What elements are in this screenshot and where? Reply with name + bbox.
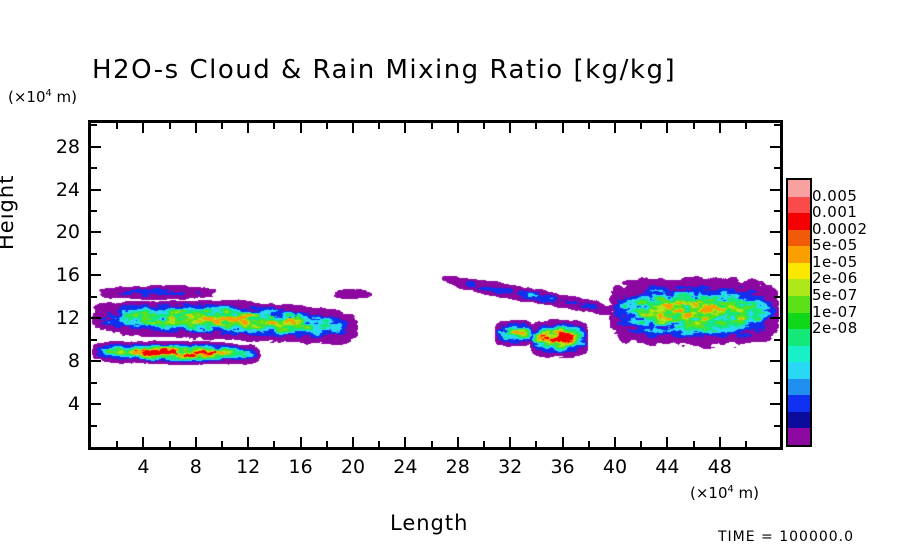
- axis-tick: [91, 296, 97, 298]
- axis-tick: [774, 425, 780, 427]
- axis-tick: [666, 437, 668, 447]
- x-axis-title: Length: [390, 511, 468, 535]
- y-tick-label: 24: [40, 179, 80, 201]
- axis-tick: [483, 441, 485, 447]
- colorbar-band: [788, 313, 810, 330]
- x-tick-label: 8: [176, 456, 216, 478]
- axis-tick: [770, 403, 780, 405]
- axis-tick: [693, 123, 695, 129]
- axis-tick: [719, 437, 721, 447]
- x-tick-label: 24: [385, 456, 425, 478]
- x-axis-units-label: (×104 m): [690, 484, 759, 502]
- axis-tick: [352, 437, 354, 447]
- colorbar-band: [788, 180, 810, 197]
- plot-area: [88, 120, 783, 450]
- axis-tick: [640, 441, 642, 447]
- axis-tick: [91, 253, 97, 255]
- colorbar-band: [788, 279, 810, 296]
- axis-tick: [774, 167, 780, 169]
- axis-tick: [247, 123, 249, 133]
- colorbar-band: [788, 246, 810, 263]
- axis-tick: [91, 274, 101, 276]
- y-tick-label: 4: [40, 393, 80, 415]
- axis-tick: [770, 360, 780, 362]
- y-tick-label: 12: [40, 307, 80, 329]
- colorbar-band: [788, 395, 810, 412]
- axis-tick: [195, 123, 197, 133]
- axis-tick: [774, 339, 780, 341]
- axis-tick: [457, 437, 459, 447]
- axis-tick: [774, 296, 780, 298]
- colorbar-band: [788, 197, 810, 214]
- axis-tick: [404, 437, 406, 447]
- axis-tick: [719, 123, 721, 133]
- axis-tick: [91, 189, 101, 191]
- colorbar-band: [788, 362, 810, 379]
- axis-tick: [273, 441, 275, 447]
- axis-tick: [509, 437, 511, 447]
- colorbar: [786, 178, 812, 447]
- axis-tick: [774, 382, 780, 384]
- axis-tick: [221, 441, 223, 447]
- axis-tick: [535, 441, 537, 447]
- axis-tick: [770, 231, 780, 233]
- y-axis-title: Height: [0, 175, 18, 250]
- colorbar-tick-label: 0.001: [812, 203, 857, 221]
- colorbar-tick-label: 0.005: [812, 187, 857, 205]
- axis-tick: [457, 123, 459, 133]
- x-tick-label: 12: [228, 456, 268, 478]
- axis-tick: [91, 403, 101, 405]
- axis-tick: [562, 123, 564, 133]
- axis-tick: [195, 437, 197, 447]
- y-tick-label: 8: [40, 350, 80, 372]
- axis-tick: [431, 441, 433, 447]
- axis-tick: [326, 123, 328, 129]
- axis-tick: [91, 317, 101, 319]
- axis-tick: [562, 437, 564, 447]
- y-tick-label: 16: [40, 264, 80, 286]
- axis-tick: [221, 123, 223, 129]
- axis-tick: [273, 123, 275, 129]
- x-tick-label: 36: [543, 456, 583, 478]
- colorbar-band: [788, 263, 810, 280]
- axis-tick: [91, 382, 97, 384]
- colorbar-band: [788, 213, 810, 230]
- axis-tick: [509, 123, 511, 133]
- x-tick-label: 32: [490, 456, 530, 478]
- colorbar-band: [788, 346, 810, 363]
- axis-tick: [91, 210, 97, 212]
- axis-tick: [770, 146, 780, 148]
- axis-tick: [770, 274, 780, 276]
- axis-tick: [91, 124, 97, 126]
- y-tick-label: 28: [40, 136, 80, 158]
- colorbar-tick-label: 1e-05: [812, 253, 858, 271]
- axis-tick: [91, 231, 101, 233]
- axis-tick: [588, 123, 590, 129]
- axis-tick: [588, 441, 590, 447]
- axis-tick: [142, 437, 144, 447]
- axis-tick: [91, 146, 101, 148]
- mixing-ratio-field: [91, 123, 780, 447]
- axis-tick: [614, 123, 616, 133]
- x-tick-label: 20: [333, 456, 373, 478]
- x-tick-label: 4: [123, 456, 163, 478]
- colorbar-band: [788, 428, 810, 445]
- colorbar-band: [788, 230, 810, 247]
- x-tick-label: 44: [647, 456, 687, 478]
- axis-tick: [693, 441, 695, 447]
- axis-tick: [326, 441, 328, 447]
- axis-tick: [247, 437, 249, 447]
- axis-tick: [774, 253, 780, 255]
- axis-tick: [378, 123, 380, 129]
- axis-tick: [640, 123, 642, 129]
- colorbar-band: [788, 296, 810, 313]
- axis-tick: [352, 123, 354, 133]
- page-title: H2O-s Cloud & Rain Mixing Ratio [kg/kg]: [92, 55, 676, 85]
- x-tick-label: 40: [595, 456, 635, 478]
- axis-tick: [774, 124, 780, 126]
- axis-tick: [169, 441, 171, 447]
- axis-tick: [614, 437, 616, 447]
- colorbar-tick-label: 2e-08: [812, 319, 858, 337]
- colorbar-band: [788, 412, 810, 429]
- colorbar-band: [788, 379, 810, 396]
- axis-tick: [666, 123, 668, 133]
- axis-tick: [770, 189, 780, 191]
- figure-canvas: H2O-s Cloud & Rain Mixing Ratio [kg/kg] …: [0, 0, 904, 544]
- colorbar-tick-label: 1e-07: [812, 303, 858, 321]
- time-annotation: TIME = 100000.0: [718, 529, 854, 544]
- axis-tick: [116, 123, 118, 129]
- axis-tick: [91, 339, 97, 341]
- axis-tick: [91, 167, 97, 169]
- axis-tick: [91, 360, 101, 362]
- axis-tick: [142, 123, 144, 133]
- axis-tick: [378, 441, 380, 447]
- axis-tick: [300, 437, 302, 447]
- x-tick-label: 28: [438, 456, 478, 478]
- axis-tick: [535, 123, 537, 129]
- y-tick-label: 20: [40, 221, 80, 243]
- colorbar-tick-label: 5e-05: [812, 236, 858, 254]
- axis-tick: [404, 123, 406, 133]
- y-axis-units-label: (×104 m): [8, 88, 77, 106]
- axis-tick: [300, 123, 302, 133]
- axis-tick: [483, 123, 485, 129]
- axis-tick: [745, 441, 747, 447]
- x-tick-label: 48: [700, 456, 740, 478]
- colorbar-tick-label: 2e-06: [812, 269, 858, 287]
- colorbar-tick-label: 5e-07: [812, 286, 858, 304]
- axis-tick: [91, 425, 97, 427]
- colorbar-band: [788, 329, 810, 346]
- colorbar-tick-label: 0.0002: [812, 220, 868, 238]
- axis-tick: [774, 210, 780, 212]
- axis-tick: [169, 123, 171, 129]
- x-tick-label: 16: [281, 456, 321, 478]
- axis-tick: [431, 123, 433, 129]
- axis-tick: [770, 317, 780, 319]
- axis-tick: [745, 123, 747, 129]
- axis-tick: [116, 441, 118, 447]
